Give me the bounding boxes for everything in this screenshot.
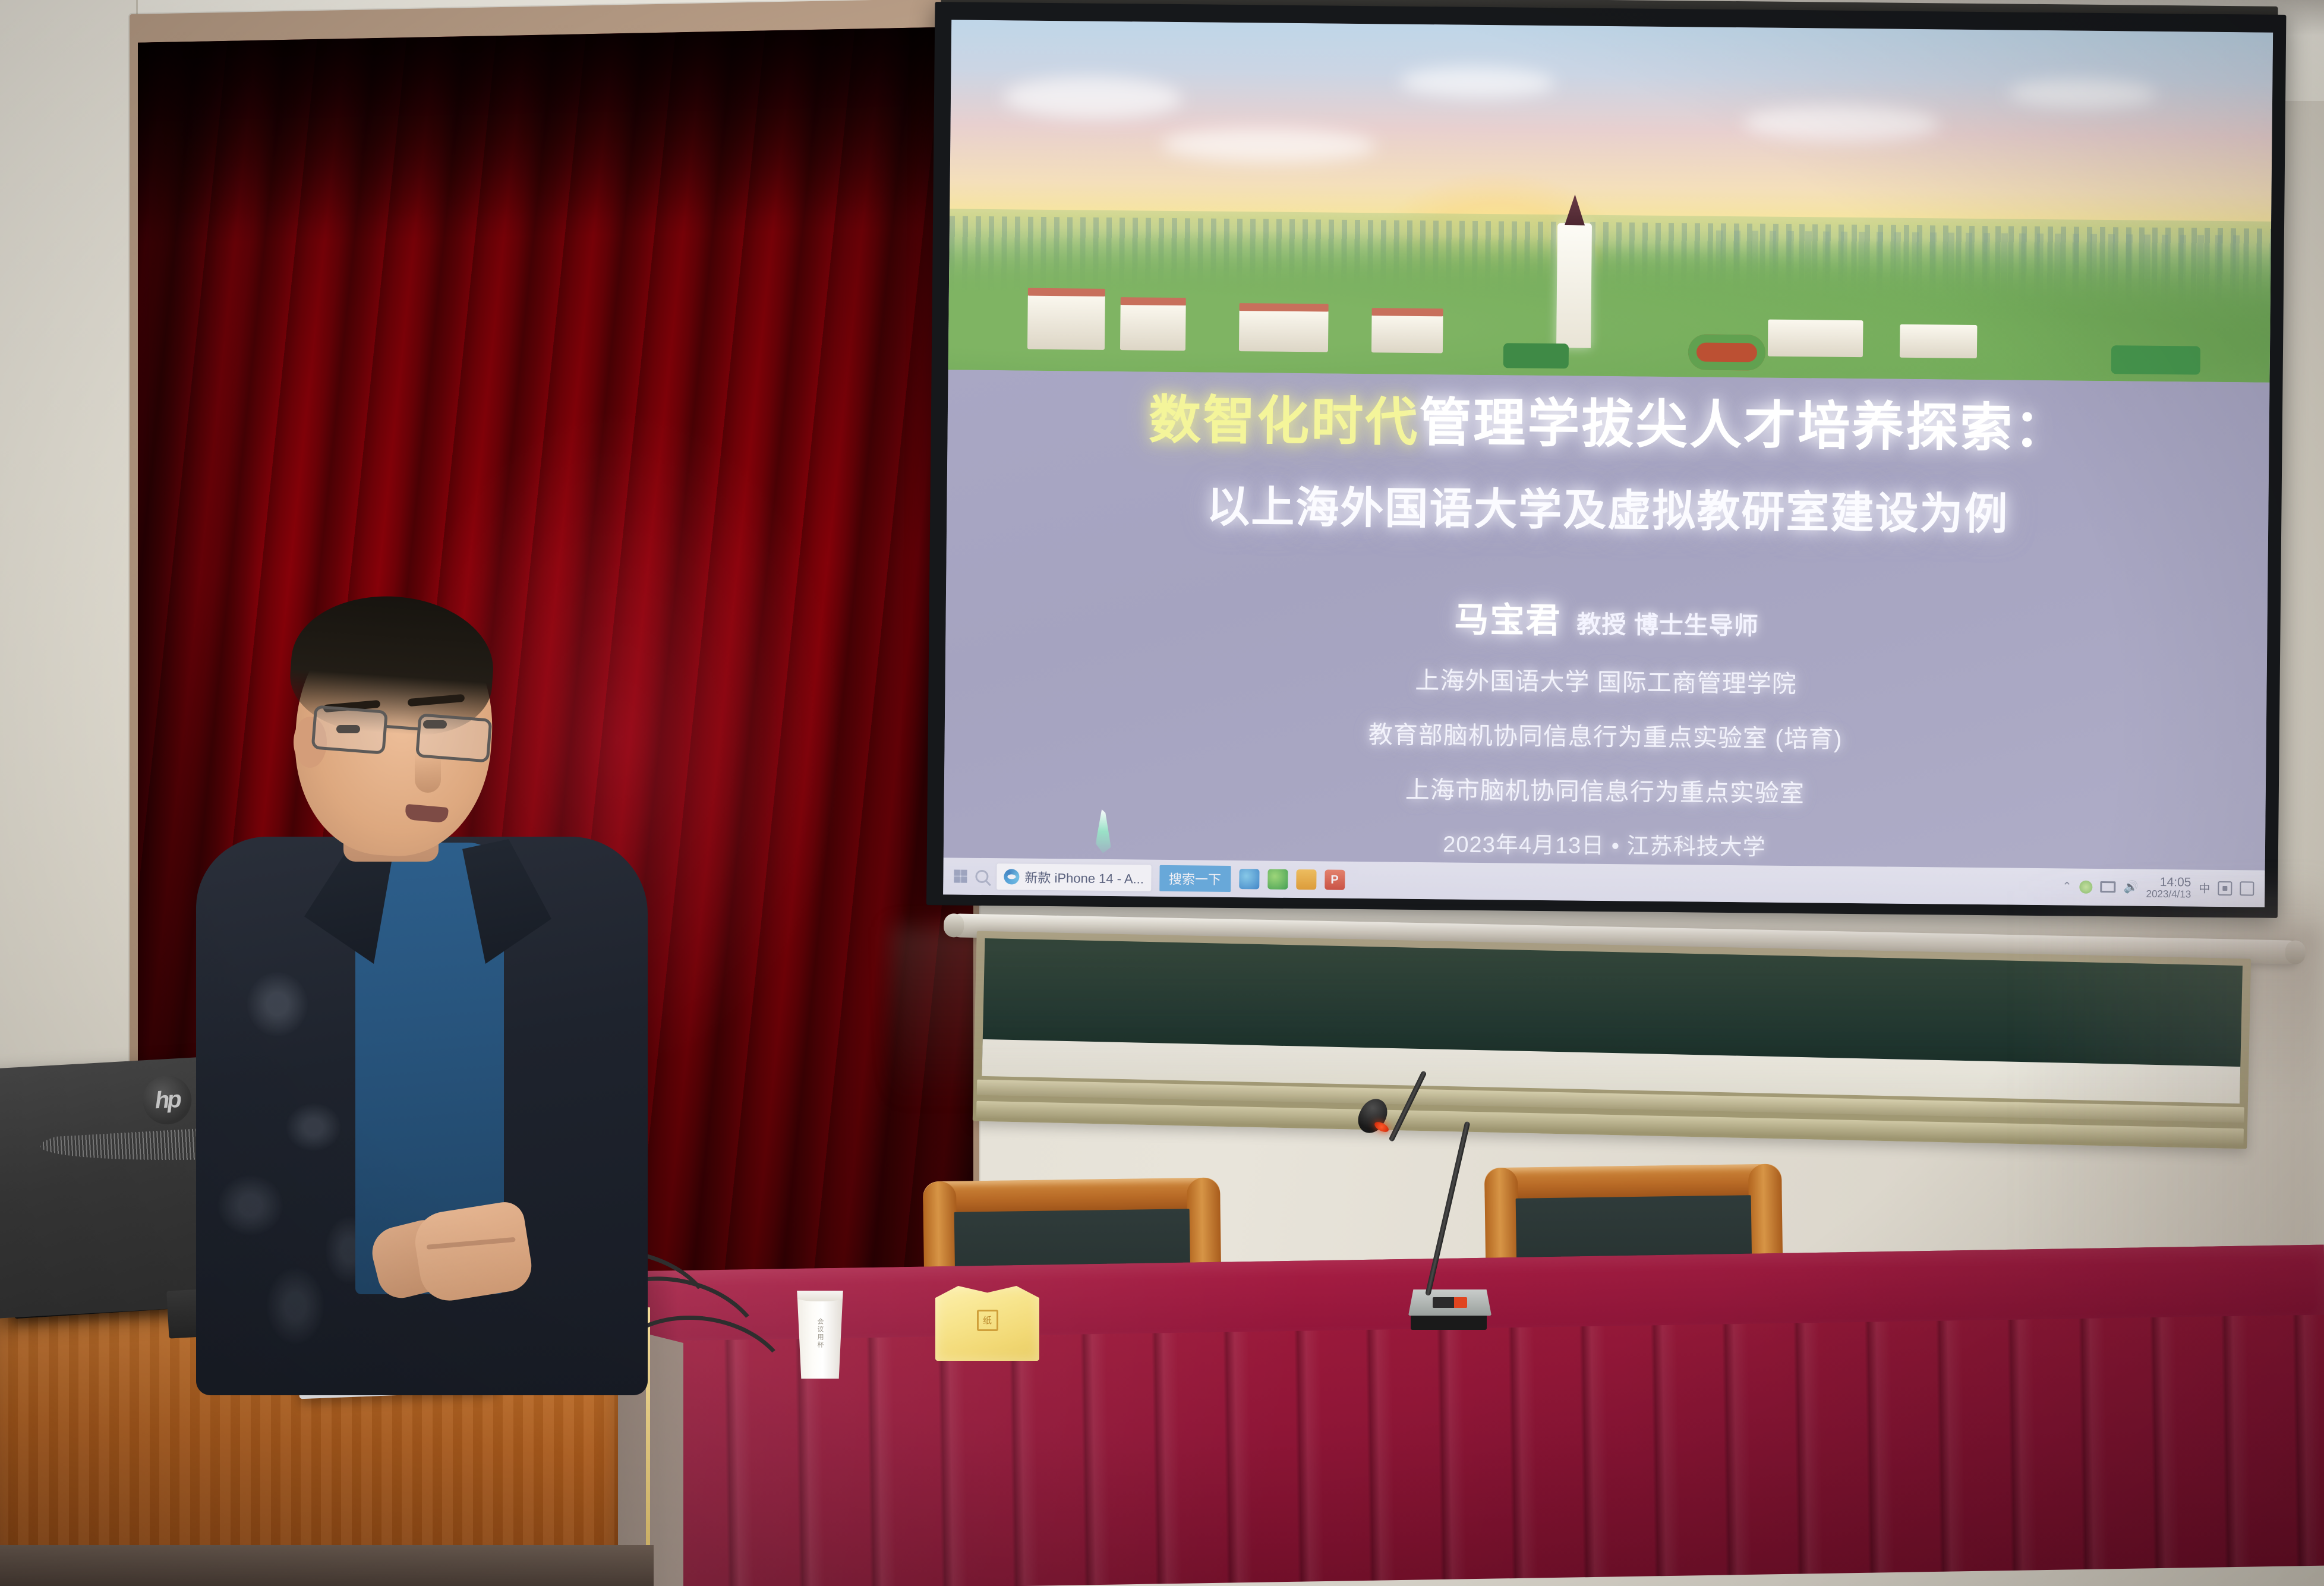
- campus-photo: [948, 20, 2273, 382]
- edge-browser-icon: [1004, 869, 1019, 884]
- search-button[interactable]: 搜索一下: [1159, 865, 1231, 892]
- campus-building: [1120, 304, 1186, 351]
- glasses-bridge: [386, 725, 419, 730]
- screen-surface: 数智化时代管理学拔尖人才培养探索： 以上海外国语大学及虚拟教研室建设为例 马宝君…: [943, 20, 2273, 907]
- cup-text: 会议用杯: [815, 1318, 825, 1349]
- paper-cup: 会议用杯: [794, 1291, 846, 1379]
- sports-field: [2111, 345, 2200, 374]
- qq-icon[interactable]: [1267, 869, 1288, 890]
- windows-start-icon[interactable]: [954, 869, 967, 882]
- tissue-pack: 纸: [935, 1286, 1039, 1361]
- slide-date-venue: 2023年4月13日 • 江苏科技大学: [1443, 825, 1766, 861]
- slide-subtitle: 以上海外国语大学及虚拟教研室建设为例: [1206, 472, 2009, 543]
- campus-building: [1027, 295, 1105, 350]
- affiliation-3: 上海市脑机协同信息行为重点实验室: [1405, 770, 1805, 809]
- wechat-icon[interactable]: [1239, 869, 1259, 889]
- projection-screen: 数智化时代管理学拔尖人才培养探索： 以上海外国语大学及虚拟教研室建设为例 马宝君…: [915, 0, 2297, 951]
- glasses-lens-left: [311, 705, 388, 755]
- presenter: [196, 606, 648, 1390]
- campus-building: [1371, 315, 1443, 354]
- cloud: [1400, 66, 1554, 98]
- screen-frame: 数智化时代管理学拔尖人才培养探索： 以上海外国语大学及虚拟教研室建设为例 马宝君…: [926, 2, 2286, 918]
- running-track: [1688, 334, 1766, 370]
- slide-author-line: 马宝君 教授 博士生导师: [1454, 592, 1759, 645]
- affiliation-2: 教育部脑机协同信息行为重点实验室 (培育): [1368, 714, 1843, 755]
- speaker-role: 教授 博士生导师: [1576, 604, 1759, 642]
- sports-field: [1503, 343, 1569, 368]
- campus-building: [1900, 324, 1978, 358]
- table-mic-foot: [1411, 1314, 1487, 1330]
- cloud: [1004, 76, 1183, 119]
- lecture-hall-photo: 数智化时代管理学拔尖人才培养探索： 以上海外国语大学及虚拟教研室建设为例 马宝君…: [0, 0, 2324, 1586]
- campus-building: [1768, 320, 1863, 358]
- slide-title-highlight: 数智化时代: [1149, 390, 1420, 451]
- slide-title-rest: 管理学拔尖人才培养探索：: [1419, 393, 2068, 458]
- stage-floor: [0, 1545, 654, 1586]
- slide-title: 数智化时代管理学拔尖人才培养探索：: [1149, 392, 2068, 456]
- table-mic-base[interactable]: [1408, 1289, 1491, 1316]
- affiliation-1: 上海外国语大学 国际工商管理学院: [1415, 660, 1797, 699]
- speaker-name: 马宝君: [1454, 592, 1562, 643]
- presenter-nose: [415, 753, 441, 793]
- campus-clock-tower: [1556, 223, 1592, 348]
- cloud: [1162, 127, 1376, 163]
- tissue-logo: 纸: [977, 1310, 998, 1331]
- news-widget-text: 新款 iPhone 14 - A...: [1024, 868, 1144, 888]
- campus-greenery: [948, 209, 2271, 382]
- news-widget[interactable]: 新款 iPhone 14 - A...: [997, 863, 1151, 891]
- slide-body: 数智化时代管理学拔尖人才培养探索： 以上海外国语大学及虚拟教研室建设为例 马宝君…: [943, 370, 2269, 907]
- search-icon[interactable]: [975, 870, 988, 883]
- wall-left-panel: [0, 0, 138, 1081]
- cloud: [1743, 105, 1940, 142]
- clock-time: 14:05: [2160, 876, 2191, 890]
- notes-icon[interactable]: [1296, 869, 1316, 890]
- cloud: [2008, 79, 2156, 109]
- campus-building: [1239, 310, 1329, 352]
- powerpoint-icon[interactable]: P: [1325, 869, 1345, 890]
